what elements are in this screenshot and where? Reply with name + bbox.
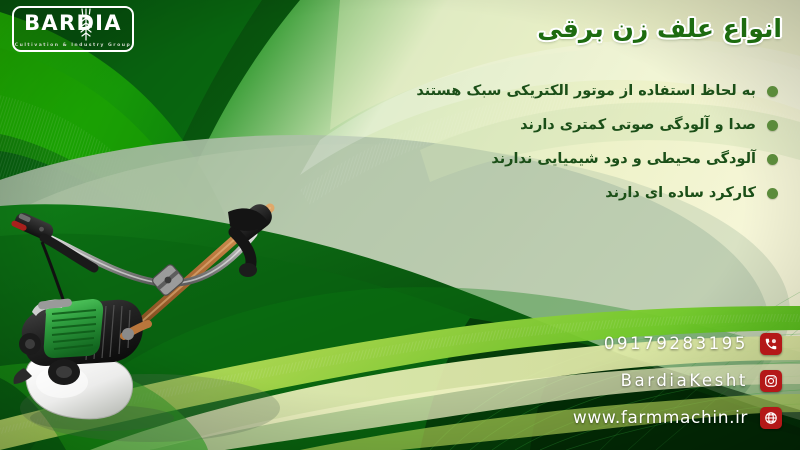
promotional-banner: BARDIA Cultivation & Industry Group انوا… (0, 0, 800, 450)
bullet-icon (767, 120, 778, 131)
bullet-icon (767, 188, 778, 199)
logo-wordmark: BARDIA (12, 13, 134, 33)
page-title: انواع علف زن برقی (537, 12, 782, 46)
feature-label: آلودگی محیطی و دود شیمیایی ندارند (491, 149, 756, 169)
list-item: آلودگی محیطی و دود شیمیایی ندارند (416, 144, 778, 174)
instagram-icon (760, 370, 782, 392)
feature-label: کارکرد ساده ای دارند (605, 183, 756, 203)
contact-row-website[interactable]: www.farmmachin.ir (573, 403, 782, 432)
feature-label: صدا و آلودگی صوتی کمتری دارند (520, 115, 756, 135)
bullet-icon (767, 154, 778, 165)
bullet-icon (767, 86, 778, 97)
logo: BARDIA Cultivation & Industry Group (12, 6, 134, 52)
feature-label: به لحاظ استفاده از موتور الکتریکی سبک هس… (416, 81, 756, 101)
list-item: صدا و آلودگی صوتی کمتری دارند (416, 110, 778, 140)
globe-icon (760, 407, 782, 429)
feature-list: به لحاظ استفاده از موتور الکتریکی سبک هس… (416, 76, 778, 212)
contact-row-instagram[interactable]: BardiaKesht (573, 366, 782, 395)
wheat-stalk-icon (76, 7, 96, 41)
phone-number: 09179283195 (604, 334, 748, 353)
product-image-brush-cutter (2, 186, 292, 436)
list-item: به لحاظ استفاده از موتور الکتریکی سبک هس… (416, 76, 778, 106)
instagram-handle: BardiaKesht (621, 371, 748, 390)
contact-row-phone[interactable]: 09179283195 (573, 329, 782, 358)
contact-block: 09179283195 BardiaKesht (573, 329, 782, 432)
logo-tagline: Cultivation & Industry Group (12, 43, 134, 48)
list-item: کارکرد ساده ای دارند (416, 178, 778, 208)
phone-icon (760, 333, 782, 355)
website-url: www.farmmachin.ir (573, 408, 748, 428)
